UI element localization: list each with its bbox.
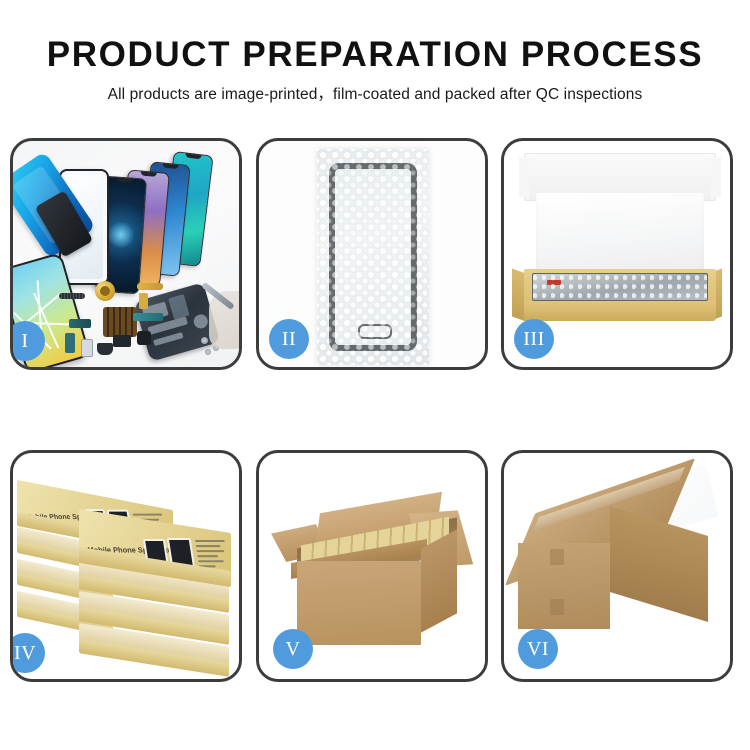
button-part — [113, 335, 131, 347]
carton-front-face — [297, 561, 421, 645]
packed-screen-in-box — [532, 273, 708, 301]
screw-part-3 — [205, 349, 211, 355]
carton-right-face — [610, 506, 708, 622]
flex-cable-part-a — [137, 283, 163, 290]
product-preparation-infographic: PRODUCT PREPARATION PROCESS All products… — [0, 0, 750, 750]
screw-part-1 — [201, 337, 208, 344]
process-step-3: III — [501, 138, 733, 370]
connector-grid-part — [103, 307, 137, 337]
spare-parts-group — [13, 141, 239, 367]
carton-tab-lower — [550, 599, 564, 615]
carton-tab-upper — [550, 549, 564, 565]
step-badge-6: VI — [518, 629, 558, 669]
process-step-grid: I II — [10, 138, 740, 684]
bubble-wrap — [317, 149, 429, 365]
flex-cable-part-d — [65, 333, 75, 353]
open-shipping-carton — [283, 499, 459, 649]
flex-cable-part-b — [139, 293, 148, 309]
header: PRODUCT PREPARATION PROCESS All products… — [0, 34, 750, 105]
process-step-1: I — [10, 138, 242, 370]
step-badge-2: II — [269, 319, 309, 359]
page-subtitle: All products are image-printed，film-coat… — [0, 85, 750, 105]
process-step-5: V — [256, 450, 488, 682]
process-step-2: II — [256, 138, 488, 370]
taptic-engine-part — [95, 281, 115, 301]
camera-module-part — [137, 331, 151, 345]
page-title: PRODUCT PREPARATION PROCESS — [0, 34, 750, 76]
step-4-image: Mobile Phone Spare Parts Mobile Phone Sp… — [13, 453, 239, 679]
step-1-image — [13, 141, 239, 367]
box-front-panel — [524, 301, 716, 321]
carton-front-face — [518, 543, 610, 629]
step-badge-3: III — [514, 319, 554, 359]
flex-cable-part-c — [69, 319, 91, 328]
white-foam-padding — [536, 193, 704, 277]
bubble-wrap-overlay — [317, 149, 429, 365]
sim-tray-part — [81, 339, 93, 357]
flex-cable-part-e — [133, 313, 163, 321]
box-stack: Mobile Phone Spare Parts Mobile Phone Sp… — [17, 475, 239, 663]
speaker-mesh-part — [59, 293, 85, 299]
step-badge-5: V — [273, 629, 313, 669]
carton-right-face — [421, 529, 457, 632]
red-label-tag — [547, 280, 561, 285]
sealed-shipping-carton — [518, 491, 718, 645]
process-step-6: VI — [501, 450, 733, 682]
process-step-4: Mobile Phone Spare Parts Mobile Phone Sp… — [10, 450, 242, 682]
speaker-part — [97, 343, 113, 355]
